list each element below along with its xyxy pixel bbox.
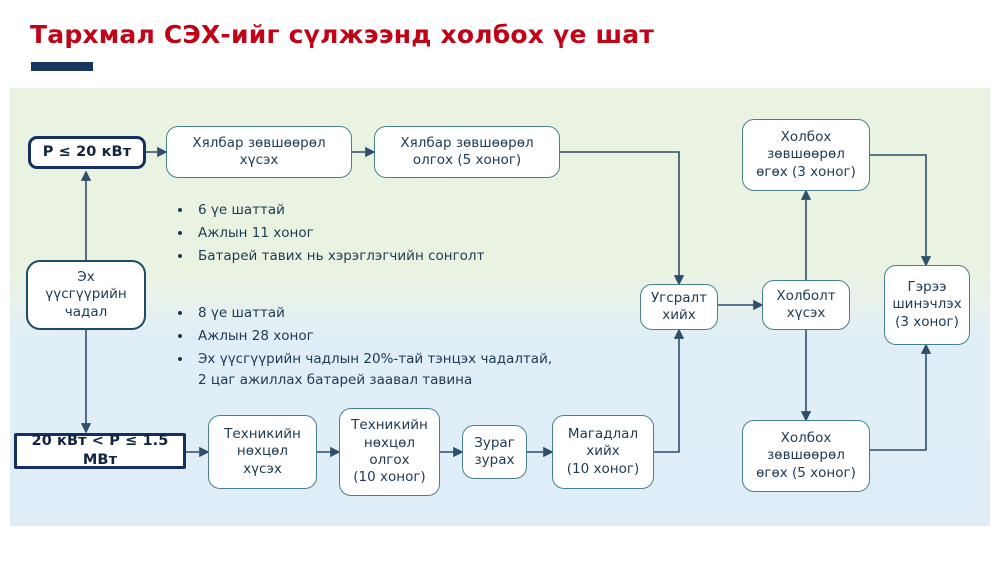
node-installation[interactable]: Угсралт хийх: [640, 284, 718, 330]
node-connection-request[interactable]: Холболт хүсэх: [762, 280, 850, 330]
node-easy-permit-request[interactable]: Хялбар зөвшөөрөл хүсэх: [166, 126, 352, 178]
note-item: Ажлын 28 хоног: [172, 326, 632, 347]
node-connection-permit-5days[interactable]: Холбох зөвшөөрөл өгөх (5 хоног): [742, 420, 870, 492]
node-source-capacity[interactable]: Эх үүсгүүрийн чадал: [26, 260, 146, 330]
page-title: Тархмал СЭХ-ийг сүлжээнд холбох үе шат: [30, 20, 654, 49]
node-assessment[interactable]: Магадлал хийх (10 хоног): [552, 415, 654, 489]
node-contract-renewal[interactable]: Гэрээ шинэчлэх (3 хоног): [884, 265, 970, 345]
note-item: 8 үе шаттай: [172, 303, 632, 324]
node-condition-small-power[interactable]: P ≤ 20 кВт: [28, 136, 146, 169]
note-item: Батарей тавих нь хэрэглэгчийн сонголт: [172, 246, 592, 267]
title-underline-rule: [31, 62, 93, 71]
notes-large-path: 8 үе шаттай Ажлын 28 хоног Эх үүсгүүрийн…: [172, 303, 632, 393]
node-technical-condition-request[interactable]: Техникийн нөхцөл хүсэх: [208, 415, 317, 489]
node-connection-permit-3days[interactable]: Холбох зөвшөөрөл өгөх (3 хоног): [742, 119, 870, 191]
notes-small-path: 6 үе шаттай Ажлын 11 хоног Батарей тавих…: [172, 200, 592, 269]
node-easy-permit-grant[interactable]: Хялбар зөвшөөрөл олгох (5 хоног): [374, 126, 560, 178]
node-technical-condition-grant[interactable]: Техникийн нөхцөл олгох (10 хоног): [339, 408, 440, 496]
note-item: Ажлын 11 хоног: [172, 223, 592, 244]
slide-canvas: Тархмал СЭХ-ийг сүлжээнд холбох үе шат: [0, 0, 1000, 562]
note-item: 6 үе шаттай: [172, 200, 592, 221]
note-item: Эх үүсгүүрийн чадлын 20%-тай тэнцэх чада…: [172, 349, 632, 391]
node-condition-large-power[interactable]: 20 кВт < P ≤ 1.5 МВт: [14, 433, 186, 469]
node-drawing[interactable]: Зураг зурах: [462, 425, 527, 479]
